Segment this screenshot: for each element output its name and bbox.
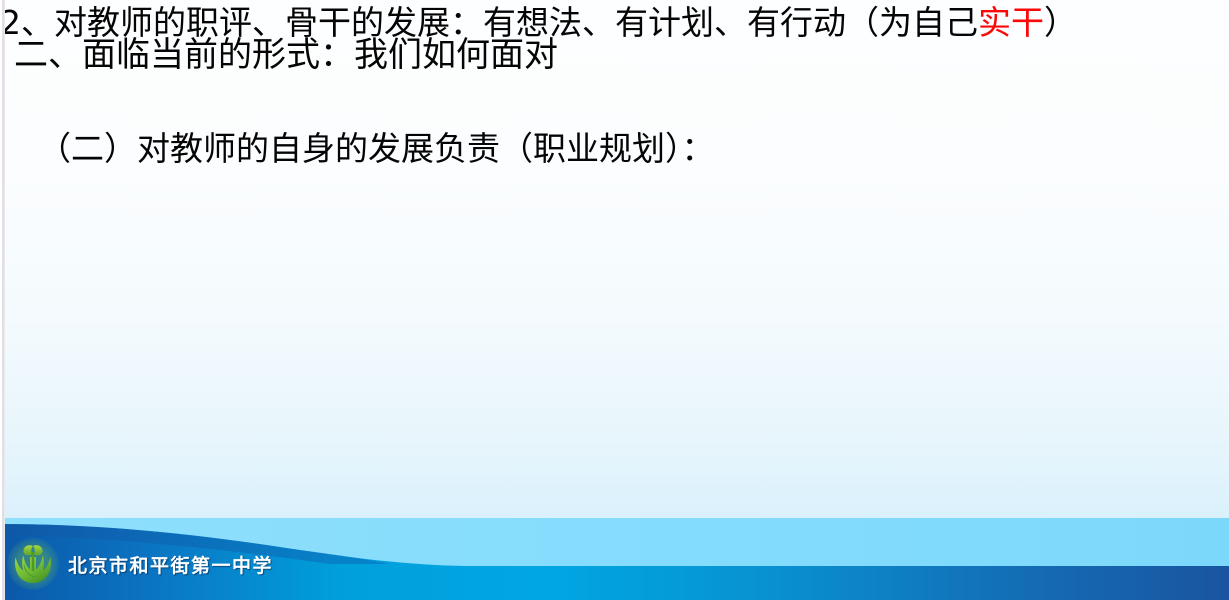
school-name-label: 北京市和平街第一中学 [68,551,273,578]
bullet-accent-text: 实干 [978,3,1044,42]
school-sprout-logo-icon [6,537,60,591]
slide-body: 二、面临当前的形式：我们如何面对 （二）对教师的自身的发展负责（职业规划）： 2… [0,0,1229,46]
bullet-text-after-accent: ） [1044,3,1077,42]
presentation-slide: 二、面临当前的形式：我们如何面对 （二）对教师的自身的发展负责（职业规划）： 2… [0,0,1229,600]
slide-subheading: （二）对教师的自身的发展负责（职业规划）： [38,126,715,172]
slide-heading: 二、面临当前的形式：我们如何面对 [14,32,558,78]
footer-brand: 北京市和平街第一中学 [0,528,420,600]
left-edge-border [0,0,5,600]
